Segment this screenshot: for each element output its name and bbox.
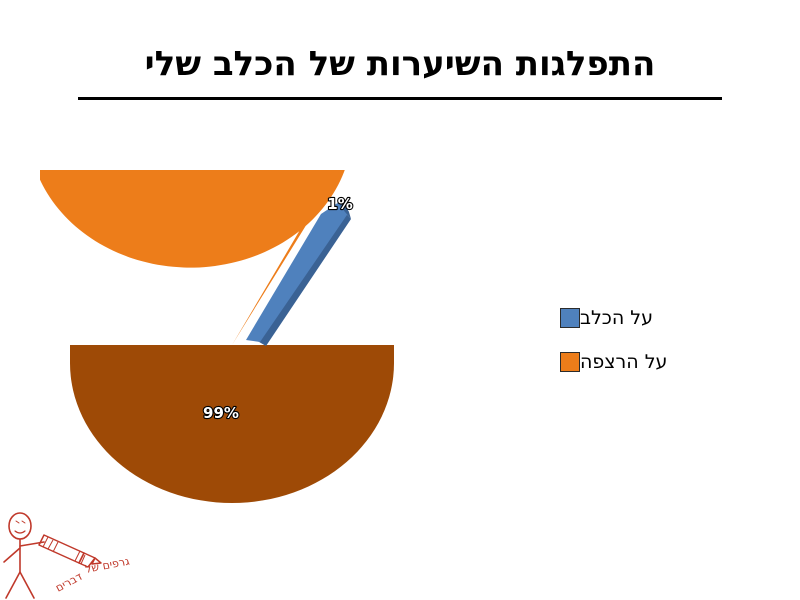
pie-label-on-floor: 99% xyxy=(203,404,239,422)
logo-text-line2: דברים xyxy=(53,570,84,595)
page-title: התפלגות השיערות של הכלב שלי xyxy=(0,46,800,83)
chart-legend: על הכלב על הרצפה xyxy=(560,296,740,384)
watermark-logo: גרפים של דברים xyxy=(0,512,140,600)
legend-label-on-floor: על הרצפה xyxy=(580,351,667,373)
title-underline xyxy=(78,97,722,100)
legend-item-on-dog[interactable]: על הכלב xyxy=(560,296,740,340)
legend-label-on-dog: על הכלב xyxy=(580,307,653,329)
legend-swatch-icon-on-dog xyxy=(560,308,580,328)
pie-chart-svg: 1% 99% xyxy=(40,170,460,550)
legend-item-on-floor[interactable]: על הרצפה xyxy=(560,340,740,384)
slide-canvas: התפלגות השיערות של הכלב שלי xyxy=(0,0,800,600)
pie-label-on-dog: 1% xyxy=(327,195,352,213)
pie-3d-base xyxy=(70,223,394,503)
legend-swatch-icon-on-floor xyxy=(560,352,580,372)
logo-text-line1: גרפים של xyxy=(84,555,131,576)
stick-figure-head-icon xyxy=(9,513,31,539)
logo-svg: גרפים של דברים xyxy=(0,512,140,600)
pie-chart: 1% 99% xyxy=(40,170,460,550)
